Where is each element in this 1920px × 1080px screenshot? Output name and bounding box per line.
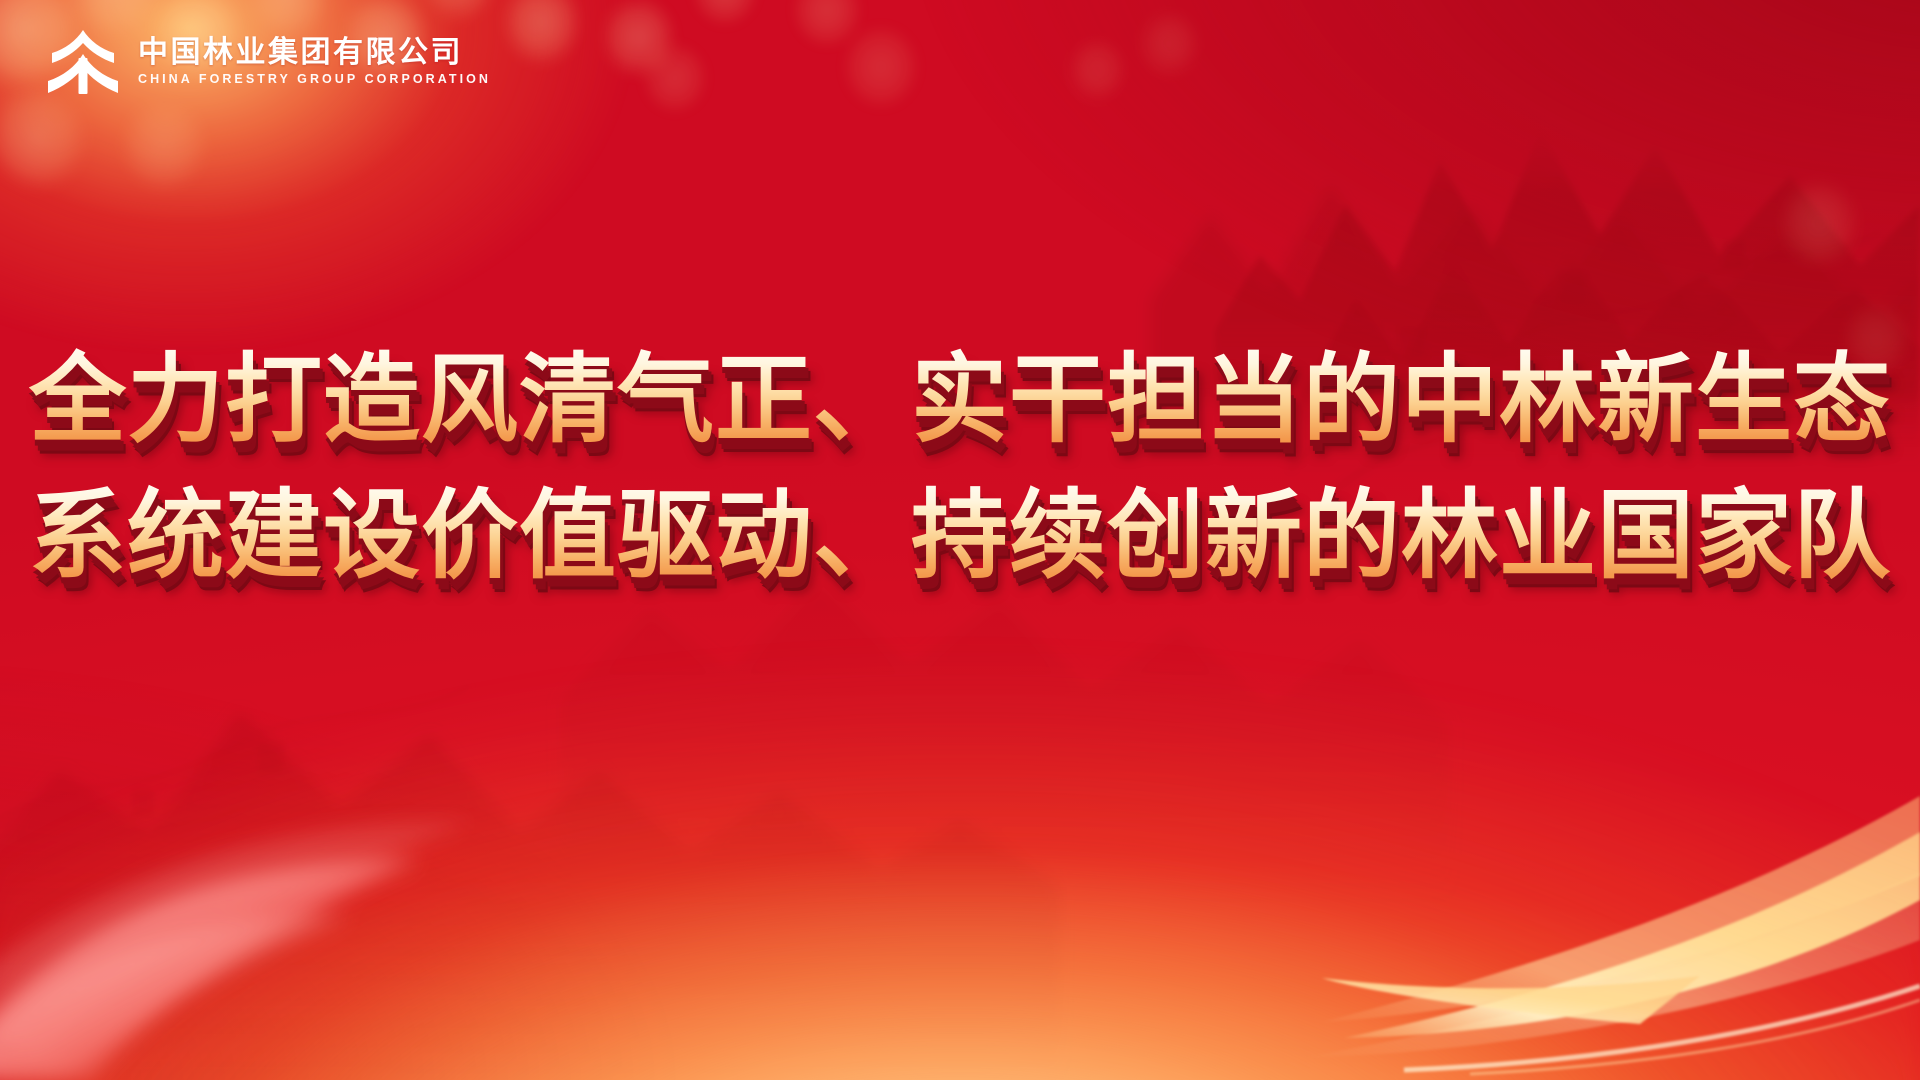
headline-line-1-text: 全力打造风清气正、实干担当的中林新生态 [29, 345, 1891, 454]
brand-name-en: CHINA FORESTRY GROUP CORPORATION [138, 73, 491, 86]
brand-logo[interactable]: 中国林业集团有限公司 CHINA FORESTRY GROUP CORPORAT… [46, 28, 491, 94]
headline-line-2-text: 系统建设价值驱动、持续创新的林业国家队 [29, 481, 1891, 590]
pagoda-tree-logo-icon [46, 28, 120, 94]
headline-block: 全力打造风清气正、实干担当的中林新生态 系统建设价值驱动、持续创新的林业国家队 [0, 332, 1920, 604]
headline-line-2: 系统建设价值驱动、持续创新的林业国家队 [0, 468, 1920, 604]
headline-line-1: 全力打造风清气正、实干担当的中林新生态 [0, 332, 1920, 468]
brand-name-cn: 中国林业集团有限公司 [138, 38, 491, 68]
banner-canvas: 中国林业集团有限公司 CHINA FORESTRY GROUP CORPORAT… [0, 0, 1920, 1080]
brand-text-column: 中国林业集团有限公司 CHINA FORESTRY GROUP CORPORAT… [138, 36, 491, 86]
